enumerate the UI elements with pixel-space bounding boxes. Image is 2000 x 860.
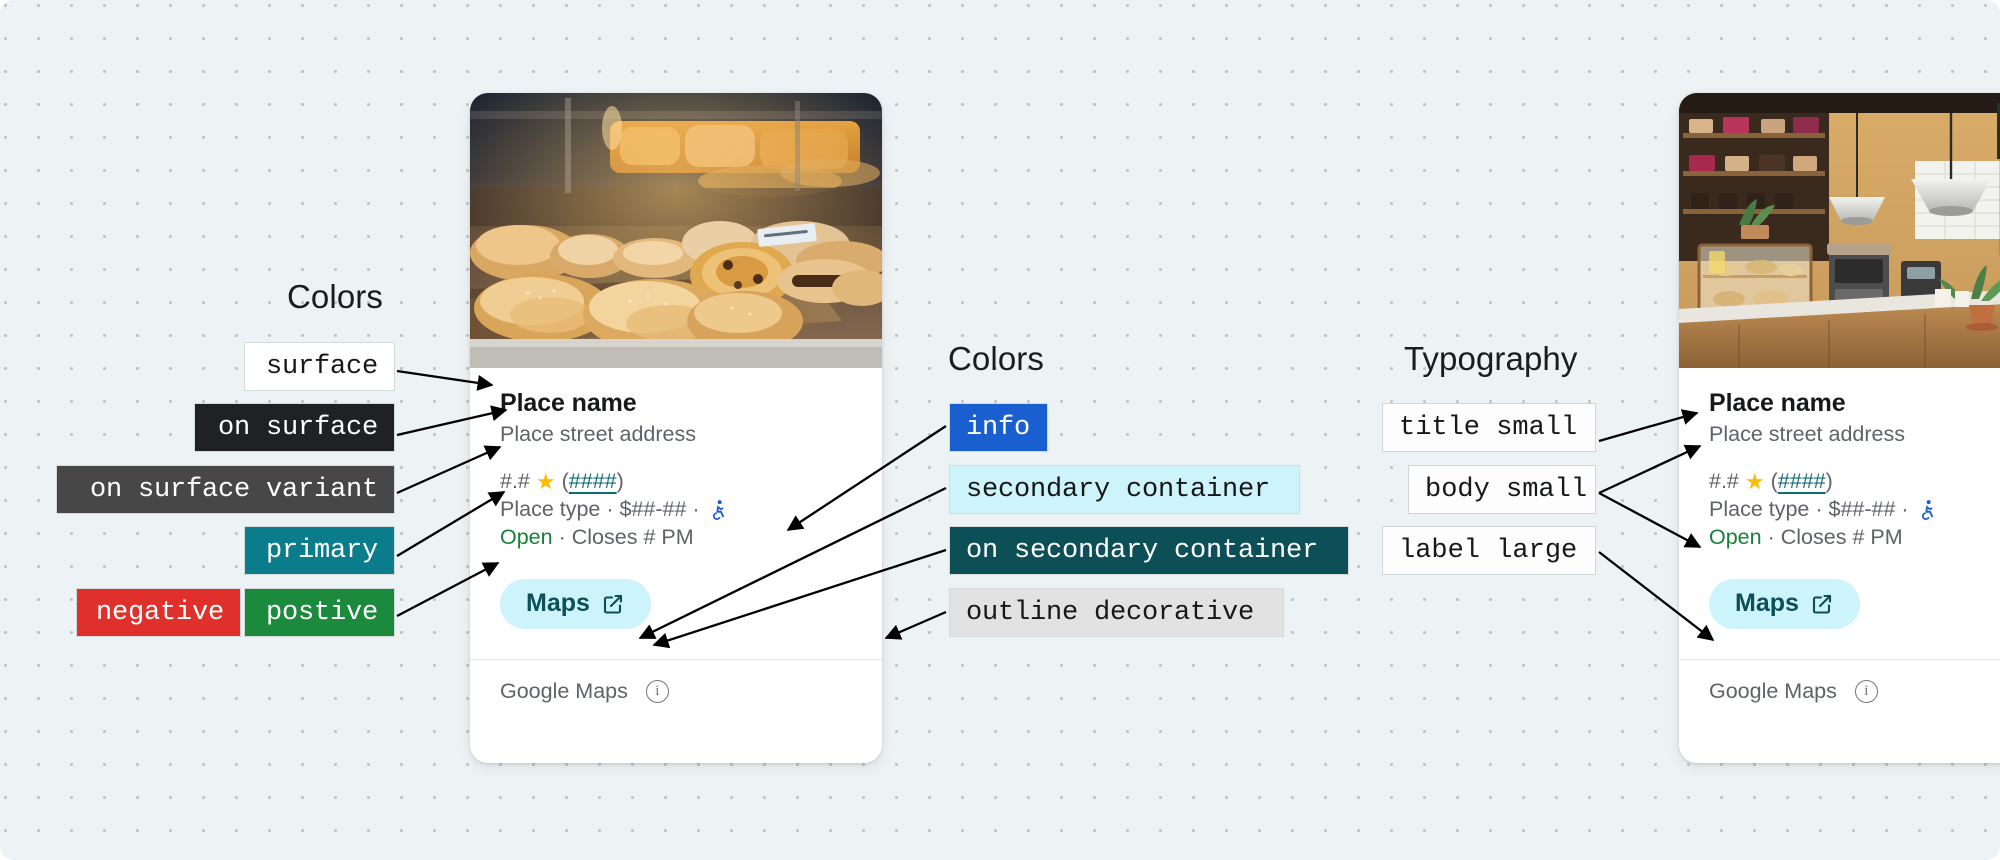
color-swatch-postive[interactable]: postive: [245, 589, 394, 636]
reviews-paren-open: (: [1771, 469, 1778, 493]
color-swatch-label: negative: [96, 598, 224, 628]
color-swatch-surface[interactable]: surface: [245, 343, 394, 390]
place-rating-value: #.#: [500, 469, 530, 494]
place-rating-value: #.#: [1709, 469, 1739, 494]
open-in-new-icon: [601, 592, 625, 616]
maps-attribution: Google Maps: [1709, 679, 1837, 704]
color-swatch-negative[interactable]: negative: [77, 589, 240, 636]
arrow-outline-decorative: [886, 612, 946, 638]
card-footer: Google Maps i: [470, 660, 882, 728]
place-card-center[interactable]: Place name Place street address #.# ★ (#…: [470, 93, 882, 763]
color-swatch-info[interactable]: info: [950, 404, 1047, 451]
color-swatch-on-secondary-container[interactable]: on secondary container: [950, 527, 1348, 574]
reviews-paren-close: ): [1826, 469, 1833, 493]
place-reviews-link[interactable]: ####: [569, 469, 617, 493]
maps-button-label: Maps: [1735, 589, 1799, 618]
place-rating-row: #.# ★ (####): [500, 469, 852, 494]
place-hours-row: Open · Closes # PM: [500, 525, 852, 550]
info-icon[interactable]: i: [646, 680, 669, 703]
section-title-colors-mid: Colors: [948, 340, 1044, 378]
color-swatch-outline-decorative[interactable]: outline decorative: [950, 589, 1283, 636]
type-token-label: label large: [1399, 536, 1577, 566]
wheelchair-accessible-icon: [707, 499, 728, 520]
place-reviews: (####): [562, 469, 624, 494]
maps-button[interactable]: Maps: [500, 579, 651, 629]
place-hours-row: Open · Closes # PM: [1709, 525, 2000, 550]
star-icon: ★: [536, 471, 556, 493]
place-rating-row: #.# ★ (####): [1709, 469, 2000, 494]
section-title-colors-left: Colors: [287, 278, 383, 316]
open-in-new-icon: [1810, 592, 1834, 616]
color-swatch-secondary-container[interactable]: secondary container: [950, 466, 1299, 513]
color-swatch-label: outline decorative: [966, 598, 1254, 628]
place-type-price: Place type · $##-## ·: [500, 497, 700, 522]
hours-separator: ·: [1768, 525, 1775, 549]
color-swatch-on-surface[interactable]: on surface: [195, 404, 394, 451]
type-token-label-large[interactable]: label large: [1383, 527, 1595, 574]
color-swatch-label: primary: [266, 536, 378, 566]
color-swatch-label: secondary container: [966, 475, 1270, 505]
type-token-title-small[interactable]: title small: [1383, 404, 1595, 451]
open-status: Open: [1709, 525, 1762, 549]
hours-separator: ·: [559, 525, 566, 549]
place-card-right[interactable]: Place name Place street address #.# ★ (#…: [1679, 93, 2000, 763]
color-swatch-label: on surface: [218, 413, 378, 443]
color-swatch-label: on surface variant: [90, 475, 378, 505]
type-token-body-small[interactable]: body small: [1409, 466, 1595, 513]
type-token-label: body small: [1425, 475, 1587, 505]
place-address: Place street address: [500, 422, 852, 447]
place-reviews-link[interactable]: ####: [1778, 469, 1826, 493]
color-swatch-label: surface: [266, 352, 378, 382]
color-swatch-label: on secondary container: [966, 536, 1318, 566]
maps-button[interactable]: Maps: [1709, 579, 1860, 629]
color-swatch-label: info: [966, 413, 1030, 443]
card-footer: Google Maps i: [1679, 660, 2000, 728]
color-swatch-on-surface-variant[interactable]: on surface variant: [57, 466, 394, 513]
info-icon[interactable]: i: [1855, 680, 1878, 703]
color-swatch-label: postive: [266, 598, 378, 628]
place-name: Place name: [1709, 389, 2000, 418]
maps-attribution: Google Maps: [500, 679, 628, 704]
reviews-paren-open: (: [562, 469, 569, 493]
star-icon: ★: [1745, 471, 1765, 493]
open-status: Open: [500, 525, 553, 549]
place-address: Place street address: [1709, 422, 2000, 447]
place-type-row: Place type · $##-## ·: [1709, 497, 2000, 522]
wheelchair-accessible-icon: [1916, 499, 1937, 520]
place-reviews: (####): [1771, 469, 1833, 494]
place-name: Place name: [500, 389, 852, 418]
place-photo-cafe: [1679, 93, 2000, 368]
place-photo-bakery: [470, 93, 882, 368]
type-token-label: title small: [1399, 413, 1577, 443]
maps-button-label: Maps: [526, 589, 590, 618]
reviews-paren-close: ): [617, 469, 624, 493]
closing-time: Closes # PM: [572, 525, 694, 549]
section-title-typography: Typography: [1404, 340, 1577, 378]
place-type-row: Place type · $##-## ·: [500, 497, 852, 522]
color-swatch-primary[interactable]: primary: [245, 527, 394, 574]
design-annotation-canvas: Colors Colors Typography surface on surf…: [0, 0, 2000, 860]
closing-time: Closes # PM: [1781, 525, 1903, 549]
place-type-price: Place type · $##-## ·: [1709, 497, 1909, 522]
